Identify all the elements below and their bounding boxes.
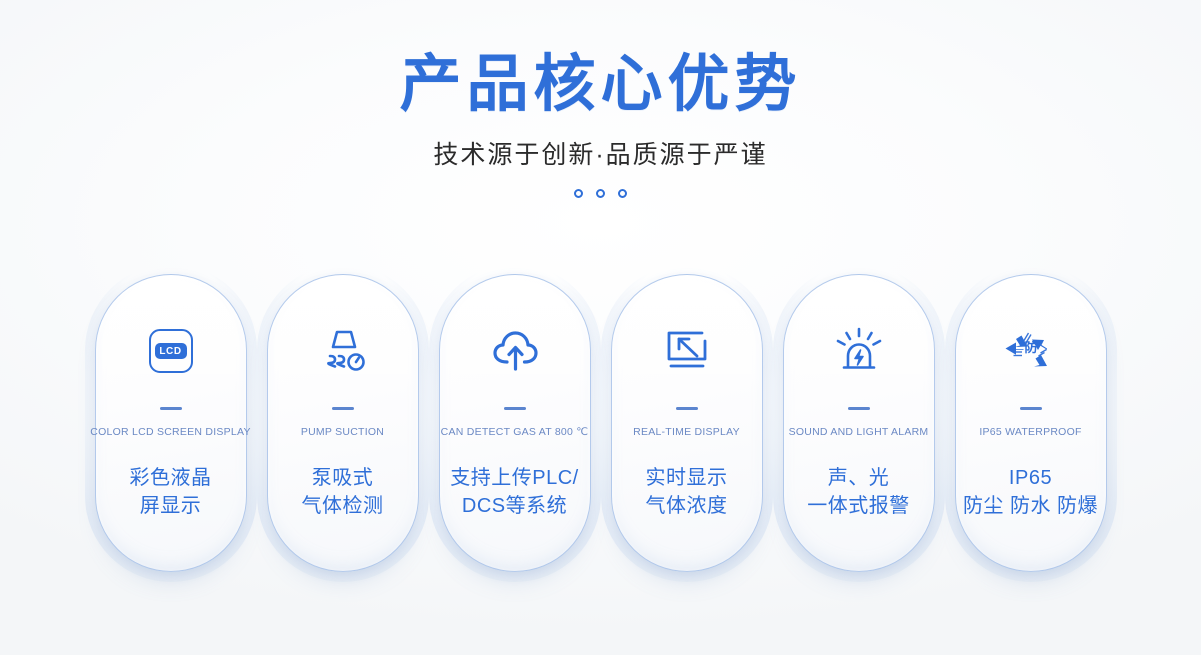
dots-separator <box>0 189 1201 198</box>
monitor-display-icon <box>659 323 715 379</box>
page-header: 产品核心优势 技术源于创新·品质源于严谨 <box>0 0 1201 198</box>
feature-cards-row: LCD COLOR LCD SCREEN DISPLAY 彩色液晶 屏显示 PU… <box>0 274 1201 584</box>
lcd-screen-icon: LCD <box>149 323 193 379</box>
dot-icon <box>596 189 605 198</box>
feature-card-cloud-upload[interactable]: CAN DETECT GAS AT 800 ℃ 支持上传PLC/ DCS等系统 <box>439 274 591 572</box>
page-subtitle: 技术源于创新·品质源于严谨 <box>0 135 1201 171</box>
cloud-upload-icon <box>488 323 542 379</box>
dot-icon <box>618 189 627 198</box>
card-english-label: REAL-TIME DISPLAY <box>633 426 740 438</box>
card-chinese-label: 声、光 一体式报警 <box>807 464 910 521</box>
protection-recycle-icon: 防 <box>1003 323 1059 379</box>
feature-card-pump-suction[interactable]: PUMP SUCTION 泵吸式 气体检测 <box>267 274 419 572</box>
lcd-icon-label: LCD <box>155 343 187 359</box>
card-english-label: SOUND AND LIGHT ALARM <box>789 426 929 438</box>
card-chinese-label: 泵吸式 气体检测 <box>302 464 384 521</box>
card-divider <box>160 407 182 410</box>
card-chinese-label: IP65 防尘 防水 防爆 <box>963 464 1098 521</box>
card-divider <box>848 407 870 410</box>
card-divider <box>676 407 698 410</box>
feature-card-lcd-display[interactable]: LCD COLOR LCD SCREEN DISPLAY 彩色液晶 屏显示 <box>95 274 247 572</box>
pump-suction-icon <box>317 323 369 379</box>
page-title: 产品核心优势 <box>0 52 1201 119</box>
card-english-label: CAN DETECT GAS AT 800 ℃ <box>441 426 589 438</box>
alarm-siren-icon <box>832 323 886 379</box>
card-chinese-label: 彩色液晶 屏显示 <box>130 464 212 521</box>
card-english-label: COLOR LCD SCREEN DISPLAY <box>90 426 250 438</box>
feature-card-ip65-waterproof[interactable]: 防 IP65 WATERPROOF IP65 防尘 防水 防爆 <box>955 274 1107 572</box>
feature-card-realtime-display[interactable]: REAL-TIME DISPLAY 实时显示 气体浓度 <box>611 274 763 572</box>
feature-card-sound-light-alarm[interactable]: SOUND AND LIGHT ALARM 声、光 一体式报警 <box>783 274 935 572</box>
card-english-label: IP65 WATERPROOF <box>979 426 1081 438</box>
card-divider <box>504 407 526 410</box>
card-chinese-label: 实时显示 气体浓度 <box>646 464 728 521</box>
card-divider <box>332 407 354 410</box>
dot-icon <box>574 189 583 198</box>
card-divider <box>1020 407 1042 410</box>
card-chinese-label: 支持上传PLC/ DCS等系统 <box>450 464 578 521</box>
card-english-label: PUMP SUCTION <box>301 426 384 438</box>
protection-icon-label: 防 <box>1024 340 1037 356</box>
